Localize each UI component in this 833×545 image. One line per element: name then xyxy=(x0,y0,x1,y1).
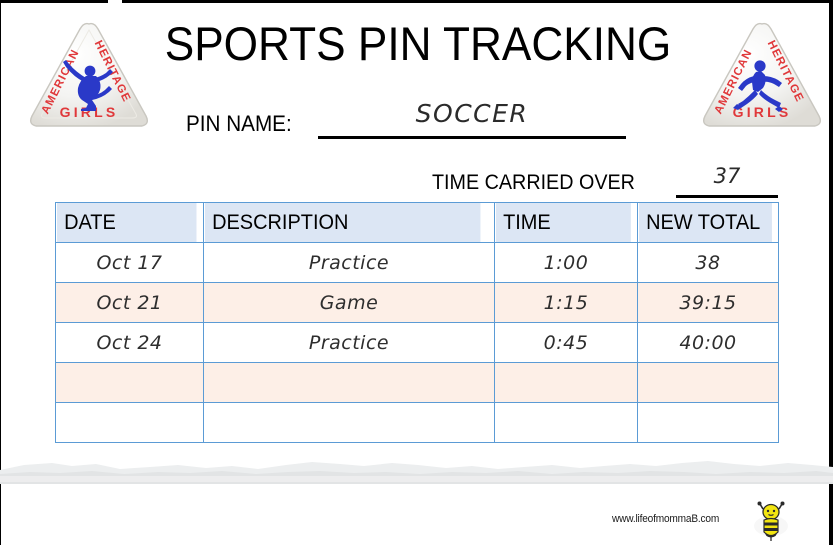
worksheet-page: AMERICAN HERITAGE GIRLS SPORTS PIN TRACK… xyxy=(0,0,833,545)
table-row[interactable]: Oct 24 Practice 0:45 40:00 xyxy=(56,323,779,363)
pin-badge-right: AMERICAN HERITAGE GIRLS xyxy=(697,18,827,136)
page-border-top xyxy=(0,0,833,3)
pin-tracking-table: DATE DESCRIPTION TIME NEW TOTAL Oct 17 P… xyxy=(55,202,779,443)
footer: www.lifeofmommaB.com xyxy=(612,505,812,545)
pin-badge-left: AMERICAN HERITAGE GIRLS xyxy=(24,18,154,136)
table-row[interactable]: Oct 21 Game 1:15 39:15 xyxy=(56,283,779,323)
american-heritage-girls-pin-figure-skater: AMERICAN HERITAGE GIRLS xyxy=(24,18,154,136)
cell-time[interactable]: 0:45 xyxy=(495,323,638,363)
column-header-time: TIME xyxy=(495,203,631,243)
bee-icon xyxy=(748,501,794,543)
pin-name-value[interactable]: SOCCER xyxy=(318,99,626,128)
pin-name-underline xyxy=(318,136,626,139)
time-carried-over-field: TIME CARRIED OVER 37 xyxy=(432,168,778,200)
cell-description[interactable] xyxy=(204,403,495,443)
column-header-description: DESCRIPTION xyxy=(204,203,480,243)
cell-description[interactable]: Practice xyxy=(204,323,495,363)
page-title: SPORTS PIN TRACKING xyxy=(164,16,672,71)
footer-url[interactable]: www.lifeofmommaB.com xyxy=(612,513,719,525)
time-carried-over-underline xyxy=(676,195,778,198)
table-row[interactable]: Oct 17 Practice 1:00 38 xyxy=(56,243,779,283)
table-header-row: DATE DESCRIPTION TIME NEW TOTAL xyxy=(56,203,779,243)
column-header-date: DATE xyxy=(56,203,197,243)
cell-date[interactable]: Oct 24 xyxy=(56,323,204,363)
cell-time[interactable]: 1:00 xyxy=(495,243,638,283)
page-border-top-notch xyxy=(108,0,122,3)
cell-date[interactable]: Oct 17 xyxy=(56,243,204,283)
torn-paper-edge xyxy=(0,452,833,484)
cell-date[interactable]: Oct 21 xyxy=(56,283,204,323)
pin-name-label: PIN NAME: xyxy=(186,111,292,137)
cell-time[interactable] xyxy=(495,363,638,403)
cell-new-total[interactable]: 39:15 xyxy=(638,283,779,323)
cell-description[interactable] xyxy=(204,363,495,403)
time-carried-over-value[interactable]: 37 xyxy=(676,164,778,188)
cell-date[interactable] xyxy=(56,403,204,443)
table-row[interactable] xyxy=(56,403,779,443)
column-header-new-total: NEW TOTAL xyxy=(638,203,772,243)
cell-date[interactable] xyxy=(56,363,204,403)
cell-time[interactable]: 1:15 xyxy=(495,283,638,323)
cell-new-total[interactable]: 38 xyxy=(638,243,779,283)
cell-new-total[interactable]: 40:00 xyxy=(638,323,779,363)
cell-description[interactable]: Practice xyxy=(204,243,495,283)
cell-description[interactable]: Game xyxy=(204,283,495,323)
cell-time[interactable] xyxy=(495,403,638,443)
table-row[interactable] xyxy=(56,363,779,403)
time-carried-over-label: TIME CARRIED OVER xyxy=(432,171,635,195)
cell-new-total[interactable] xyxy=(638,403,779,443)
cell-new-total[interactable] xyxy=(638,363,779,403)
pin-name-field: PIN NAME: SOCCER xyxy=(186,105,646,143)
american-heritage-girls-pin-runner: AMERICAN HERITAGE GIRLS xyxy=(697,18,827,136)
